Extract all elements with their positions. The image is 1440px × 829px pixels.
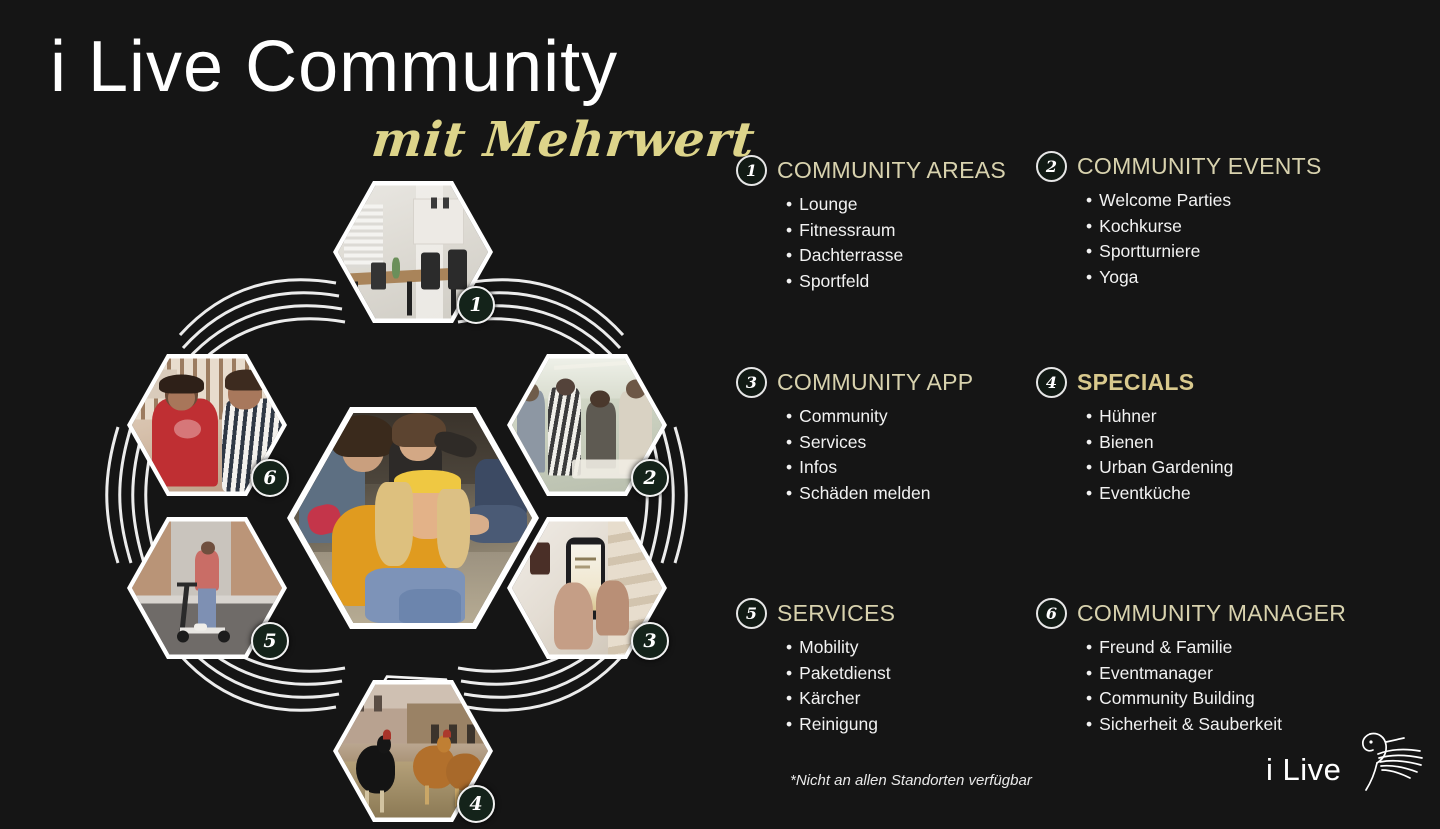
section-header: 1 COMMUNITY AREAS [736,155,1046,186]
hex-node-5[interactable]: 5 [119,510,295,666]
section-title: COMMUNITY AREAS [777,157,1006,184]
section-services: 5 SERVICES Mobility Paketdienst Kärcher … [736,598,1046,737]
section-number-badge: 3 [736,367,767,398]
list-item: Paketdienst [786,661,1046,687]
hex-badge-4: 4 [457,785,495,823]
list-item: Reinigung [786,712,1046,738]
section-number-badge: 1 [736,155,767,186]
section-header: 5 SERVICES [736,598,1046,629]
list-item: Urban Gardening [1086,455,1346,481]
list-item: Eventmanager [1086,661,1346,687]
hex-badge-6: 6 [251,459,289,497]
hexagon-diagram: 1 2 [20,165,730,810]
section-header: 2 COMMUNITY EVENTS [1036,151,1346,182]
section-list: Community Services Infos Schäden melden [786,404,1046,506]
list-item: Fitnessraum [786,218,1046,244]
list-item: Dachterrasse [786,243,1046,269]
list-item: Kärcher [786,686,1046,712]
section-header: 6 COMMUNITY MANAGER [1036,598,1346,629]
section-community-areas: 1 COMMUNITY AREAS Lounge Fitnessraum Dac… [736,155,1046,294]
section-number-badge: 6 [1036,598,1067,629]
section-title: COMMUNITY EVENTS [1077,153,1322,180]
title-main: i Live Community [50,24,730,110]
hex-node-1[interactable]: 1 [325,174,501,330]
title-script-accent: mit Mehrwert [369,112,758,168]
section-number-badge: 4 [1036,367,1067,398]
feature-sections: 1 COMMUNITY AREAS Lounge Fitnessraum Dac… [736,155,1426,755]
hummingbird-icon [1340,730,1426,792]
list-item: Yoga [1086,265,1346,291]
footnote: *Nicht an allen Standorten verfügbar [790,772,1032,789]
logo-text: i Live [1266,752,1341,788]
section-number-badge: 5 [736,598,767,629]
list-item: Mobility [786,635,1046,661]
list-item: Hühner [1086,404,1346,430]
list-item: Infos [786,455,1046,481]
list-item: Bienen [1086,430,1346,456]
list-item: Welcome Parties [1086,188,1346,214]
section-list: Welcome Parties Kochkurse Sportturniere … [1086,188,1346,290]
section-community-manager: 6 COMMUNITY MANAGER Freund & Familie Eve… [1036,598,1346,737]
infographic-canvas: i Live Community mit Mehrwert [0,0,1440,810]
section-title: COMMUNITY MANAGER [1077,600,1346,627]
section-specials: 4 SPECIALS Hühner Bienen Urban Gardening… [1036,367,1346,506]
list-item: Services [786,430,1046,456]
section-community-app: 3 COMMUNITY APP Community Services Infos… [736,367,1046,506]
hex-badge-5: 5 [251,622,289,660]
section-title: SERVICES [777,600,895,627]
section-number-badge: 2 [1036,151,1067,182]
list-item: Eventküche [1086,481,1346,507]
section-title: SPECIALS [1077,369,1194,396]
section-list: Hühner Bienen Urban Gardening Eventküche [1086,404,1346,506]
page-title: i Live Community mit Mehrwert [50,24,730,164]
section-title: COMMUNITY APP [777,369,973,396]
section-header: 4 SPECIALS [1036,367,1346,398]
section-community-events: 2 COMMUNITY EVENTS Welcome Parties Kochk… [1036,151,1346,290]
list-item: Freund & Familie [1086,635,1346,661]
hex-badge-3: 3 [631,622,669,660]
section-list: Lounge Fitnessraum Dachterrasse Sportfel… [786,192,1046,294]
hex-node-center[interactable] [287,407,539,629]
hex-badge-1: 1 [457,286,495,324]
hex-node-4[interactable]: 4 [325,673,501,829]
section-list: Mobility Paketdienst Kärcher Reinigung [786,635,1046,737]
list-item: Community [786,404,1046,430]
section-header: 3 COMMUNITY APP [736,367,1046,398]
list-item: Lounge [786,192,1046,218]
list-item: Community Building [1086,686,1346,712]
ilive-logo: i Live [1266,722,1426,794]
hex-badge-2: 2 [631,459,669,497]
list-item: Schäden melden [786,481,1046,507]
list-item: Kochkurse [1086,214,1346,240]
list-item: Sportfeld [786,269,1046,295]
list-item: Sportturniere [1086,239,1346,265]
hex-node-6[interactable]: 6 [119,347,295,503]
